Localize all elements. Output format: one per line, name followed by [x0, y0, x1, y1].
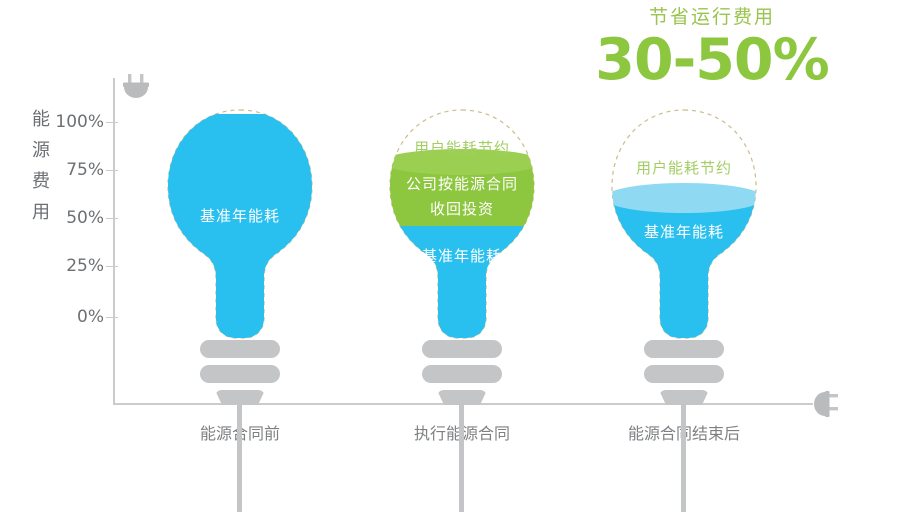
bulb-base-tip-2 — [437, 390, 487, 405]
y-tick-mark-0 — [106, 317, 118, 318]
y-tick-0: 0% — [0, 307, 104, 327]
plug-icon-top — [118, 74, 154, 104]
y-tick-label-75: 75% — [66, 160, 104, 180]
y-tick-100: 100% — [0, 112, 104, 132]
headline-value: 30-50% — [582, 30, 842, 90]
bulb-base-bar-3b — [644, 365, 724, 383]
y-tick-label-100: 100% — [55, 112, 104, 132]
y-tick-mark-50 — [106, 218, 118, 219]
bulb-stage-2: 用户能耗节约 公司按能源合同 收回投资 基准年能耗 — [382, 108, 542, 408]
bulb-base-bar-2b — [422, 365, 502, 383]
bulb-base-2 — [382, 336, 542, 416]
bulb-stem-2 — [459, 402, 464, 512]
infographic-canvas: 节省运行费用 30-50% 能 源 费 用 100% 75% 50% 25% 0… — [0, 0, 900, 473]
y-tick-mark-100 — [106, 122, 118, 123]
y-tick-label-0: 0% — [77, 307, 104, 327]
bulb-stem-1 — [237, 402, 242, 512]
y-tick-label-50: 50% — [66, 208, 104, 228]
bulb-stem-3 — [681, 402, 686, 512]
bulb-glass-3: 用户能耗节约 基准年能耗 — [604, 108, 764, 340]
bulb-stage-1: 基准年能耗 — [160, 108, 320, 408]
bulb-base-3 — [604, 336, 764, 416]
bulb-base-bar-1a — [200, 340, 280, 358]
y-tick-label-25: 25% — [66, 256, 104, 276]
bulb-base-bar-2a — [422, 340, 502, 358]
bulb-base-tip-3 — [659, 390, 709, 405]
y-tick-25: 25% — [0, 256, 104, 276]
bulb-base-bar-1b — [200, 365, 280, 383]
y-tick-50: 50% — [0, 208, 104, 228]
bulb-base-bar-3a — [644, 340, 724, 358]
y-tick-mark-25 — [106, 266, 118, 267]
y-tick-75: 75% — [0, 160, 104, 180]
bulb-base-1 — [160, 336, 320, 416]
bulb-glass-1: 基准年能耗 — [160, 108, 320, 340]
y-tick-mark-75 — [106, 170, 118, 171]
y-axis-line — [113, 78, 115, 405]
bulb-glass-2: 用户能耗节约 公司按能源合同 收回投资 基准年能耗 — [382, 108, 542, 340]
bulb-stage-3: 用户能耗节约 基准年能耗 — [604, 108, 764, 408]
plug-icon-right — [806, 388, 838, 420]
bulb-base-tip-1 — [215, 390, 265, 405]
headline-block: 节省运行费用 30-50% — [582, 4, 842, 90]
